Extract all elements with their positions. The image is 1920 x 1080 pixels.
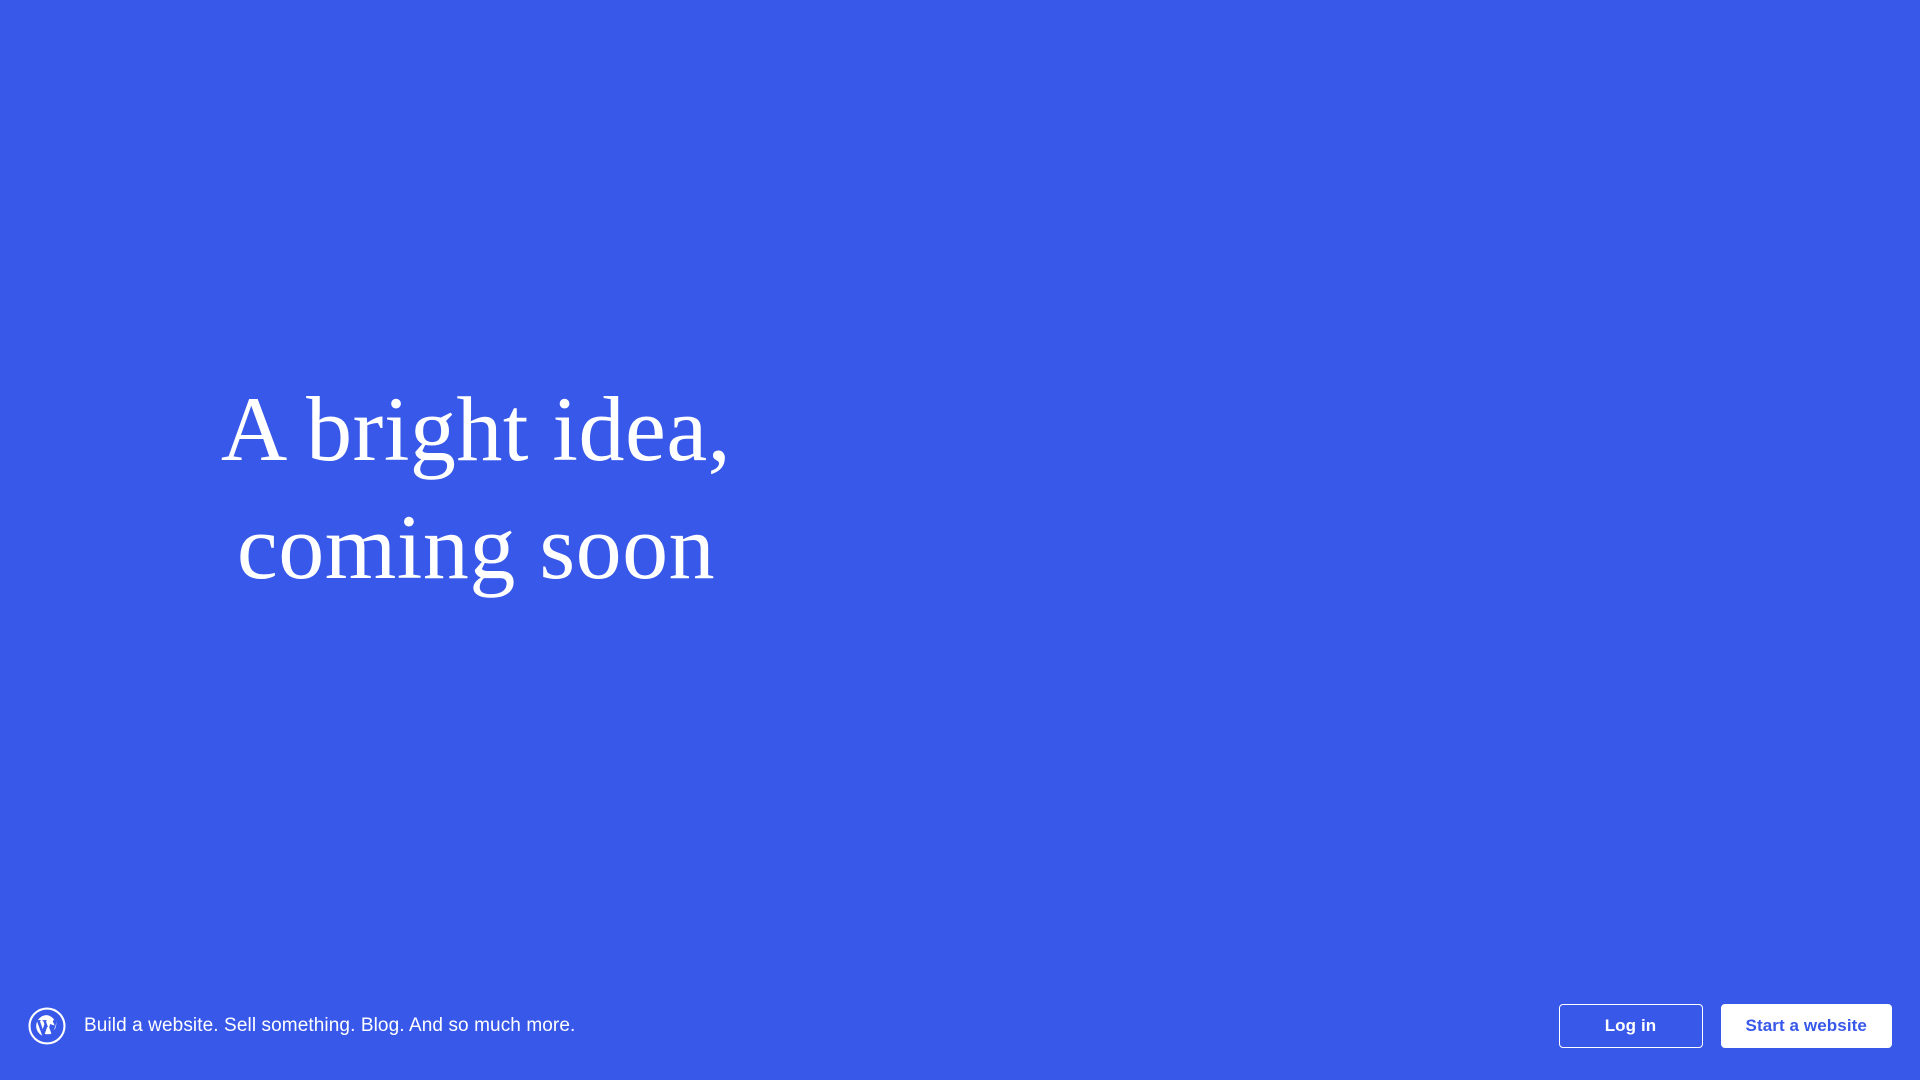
wordpress-logo-icon — [28, 1007, 66, 1045]
footer-actions: Log in Start a website — [1559, 1004, 1893, 1048]
footer-branding: Build a website. Sell something. Blog. A… — [28, 1007, 575, 1045]
footer-tagline: Build a website. Sell something. Blog. A… — [84, 1015, 575, 1038]
start-a-website-button[interactable]: Start a website — [1721, 1004, 1893, 1048]
page-title: A bright idea, coming soon — [96, 370, 856, 606]
site-footer: Build a website. Sell something. Blog. A… — [0, 972, 1920, 1080]
hero-section: A bright idea, coming soon — [0, 0, 1920, 1080]
coming-soon-page: A bright idea, coming soon Build a websi… — [0, 0, 1920, 1080]
login-button[interactable]: Log in — [1559, 1004, 1703, 1048]
